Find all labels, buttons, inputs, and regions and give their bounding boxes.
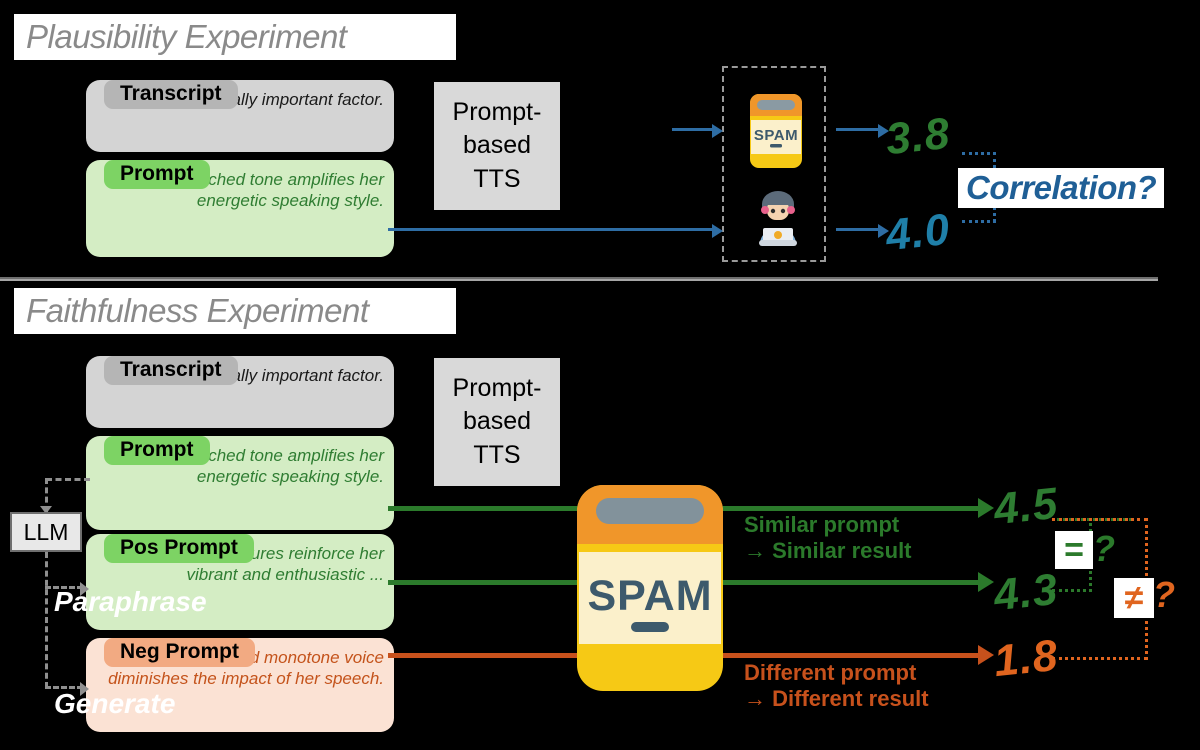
prompt-badge-label: Prompt [104, 160, 210, 189]
tts-line-1: Prompt- [453, 96, 542, 129]
spam-can-icon: SPAM [748, 92, 804, 170]
plausibility-title: Plausibility Experiment [14, 14, 456, 60]
faithfulness-transcript-card: Transcript That's an equally important f… [86, 356, 394, 428]
pos-prompt-badge-label: Pos Prompt [104, 534, 254, 563]
plausibility-tts-box: Prompt- based TTS [434, 82, 560, 210]
model-to-neg-score-line [714, 653, 982, 658]
different-caption-line-1: Different prompt [744, 660, 929, 686]
faithfulness-spam-can-icon: SPAM [574, 482, 726, 694]
prompt-to-model-line [388, 506, 598, 511]
faithfulness-tts-line-1: Prompt- [453, 372, 542, 405]
neg-prompt-to-model-line [388, 653, 598, 658]
different-caption-line-2: → Different result [744, 686, 929, 712]
tts-line-3: TTS [473, 163, 520, 196]
llm-box: LLM [10, 512, 82, 552]
faithfulness-neg-score: 1.8 [992, 631, 1061, 687]
llm-generate-label: Generate [54, 688, 175, 720]
section-divider [0, 277, 1158, 281]
llm-paraphrase-label: Paraphrase [54, 586, 207, 618]
pos-prompt-to-model-line [388, 580, 598, 585]
faithfulness-original-score: 4.5 [992, 479, 1061, 535]
notequal-bracket-bottom [1052, 657, 1147, 660]
notequal-comparison-question: ? [1153, 574, 1175, 616]
infographic-root: Plausibility Experiment Transcript That'… [0, 0, 1200, 750]
faithfulness-prompt-card: Prompt Her high-pitched tone amplifies h… [86, 436, 394, 530]
model-to-pos-score-line [714, 580, 982, 585]
faithfulness-transcript-badge-label: Transcript [104, 356, 238, 385]
llm-branch-neg-line [45, 686, 83, 689]
correlation-bracket-top [962, 152, 996, 155]
similar-caption-line-1: Similar prompt [744, 512, 912, 538]
model-to-neg-score-head [978, 645, 994, 665]
transcript-badge-label: Transcript [104, 80, 238, 109]
correlation-bracket-bottom [962, 220, 996, 223]
model-to-original-score-line [714, 506, 982, 511]
notequal-bracket-top [1052, 518, 1147, 521]
arrow-to-human-head [712, 224, 723, 238]
plausibility-prompt-card: Prompt Her high-pitched tone amplifies h… [86, 160, 394, 257]
llm-branch-neg-arrow-head [80, 682, 89, 696]
arrow-to-model-line [672, 128, 714, 131]
llm-branch-pos-arrow-head [80, 582, 89, 596]
plausibility-human-score: 4.0 [884, 205, 953, 261]
svg-text:SPAM: SPAM [754, 127, 798, 144]
svg-text:SPAM: SPAM [587, 572, 712, 620]
similar-caption-line-2: → Similar result [744, 538, 912, 564]
plausibility-model-score: 3.8 [884, 109, 953, 165]
spam-can-svg: SPAM [748, 92, 804, 170]
correlation-label: Correlation? [958, 168, 1164, 208]
arrow-to-human-line [388, 228, 714, 231]
faithfulness-tts-box: Prompt- based TTS [434, 358, 560, 486]
faithfulness-pos-score: 4.3 [992, 565, 1061, 621]
llm-input-top-line [46, 478, 90, 481]
arrow-model-score-line [836, 128, 880, 131]
human-listener-icon [752, 188, 804, 246]
faithfulness-title: Faithfulness Experiment [14, 288, 456, 334]
notequal-comparison-chip: ≠ [1114, 578, 1154, 618]
llm-branch-pos-line [45, 586, 83, 589]
llm-trunk-line [45, 552, 48, 688]
plausibility-transcript-card: Transcript That's an equally important f… [86, 80, 394, 152]
different-result-caption: Different prompt → Different result [744, 660, 929, 712]
model-to-original-score-head [978, 498, 994, 518]
faithfulness-prompt-badge-label: Prompt [104, 436, 210, 465]
human-listener-svg [752, 188, 804, 246]
equal-comparison-question: ? [1093, 528, 1115, 570]
equal-comparison-chip: = [1055, 531, 1093, 569]
tts-line-2: based [463, 129, 531, 162]
arrow-to-model-head [712, 124, 723, 138]
faithfulness-tts-line-2: based [463, 405, 531, 438]
similar-result-caption: Similar prompt → Similar result [744, 512, 912, 564]
arrow-human-score-line [836, 228, 880, 231]
neg-prompt-badge-label: Neg Prompt [104, 638, 255, 667]
faithfulness-spam-can-svg: SPAM [574, 482, 726, 694]
faithfulness-tts-line-3: TTS [473, 439, 520, 472]
